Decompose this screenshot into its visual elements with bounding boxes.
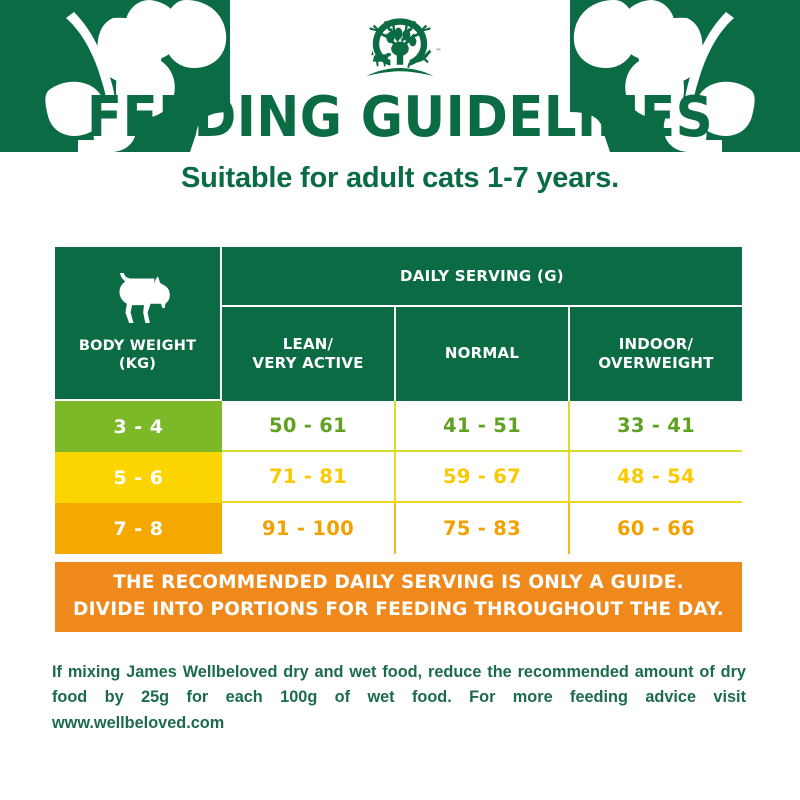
serving-subheader-row: LEAN/ VERY ACTIVE NORMAL INDOOR/ OVERWEI… [222,307,742,401]
svg-text:™: ™ [435,48,441,56]
guide-notice-line-1: THE RECOMMENDED DAILY SERVING IS ONLY A … [113,570,684,597]
body-weight-value: 3 - 4 [55,401,222,452]
daily-serving-header-label: DAILY SERVING (G) [222,247,742,307]
serving-value-cell: 50 - 61 [222,401,396,452]
body-weight-value: 7 - 8 [55,503,222,554]
serving-value-cell: 75 - 83 [396,503,570,554]
body-weight-value: 5 - 6 [55,452,222,503]
serving-column-header-indoor: INDOOR/ OVERWEIGHT [570,307,742,401]
serving-value-cell: 41 - 51 [396,401,570,452]
serving-value-cell: 91 - 100 [222,503,396,554]
serving-values-group: 91 - 10075 - 8360 - 66 [222,503,742,554]
guide-notice-line-2: DIVIDE INTO PORTIONS FOR FEEDING THROUGH… [73,597,724,624]
serving-values-group: 50 - 6141 - 5133 - 41 [222,401,742,452]
body-weight-header-label: BODY WEIGHT (KG) [79,337,196,373]
table-row: 3 - 450 - 6141 - 5133 - 41 [55,401,742,452]
table-body: 3 - 450 - 6141 - 5133 - 415 - 671 - 8159… [55,401,742,554]
serving-column-header-lean: LEAN/ VERY ACTIVE [222,307,396,401]
feeding-guidelines-table: BODY WEIGHT (KG) DAILY SERVING (G) LEAN/… [55,247,742,554]
serving-value-cell: 33 - 41 [570,401,742,452]
serving-column-header-normal: NORMAL [396,307,570,401]
cat-silhouette-icon [101,273,175,327]
serving-value-cell: 48 - 54 [570,452,742,503]
table-row: 7 - 891 - 10075 - 8360 - 66 [55,503,742,554]
page-subtitle: Suitable for adult cats 1-7 years. [0,162,800,195]
table-header: BODY WEIGHT (KG) DAILY SERVING (G) LEAN/… [55,247,742,401]
serving-values-group: 71 - 8159 - 6748 - 54 [222,452,742,503]
james-wellbeloved-tree-logo-icon: ™ [352,12,448,84]
guide-notice-banner: THE RECOMMENDED DAILY SERVING IS ONLY A … [55,562,742,632]
serving-value-cell: 60 - 66 [570,503,742,554]
table-row: 5 - 671 - 8159 - 6748 - 54 [55,452,742,503]
serving-value-cell: 59 - 67 [396,452,570,503]
body-weight-header-cell: BODY WEIGHT (KG) [55,247,222,399]
footer-note: If mixing James Wellbeloved dry and wet … [52,660,746,736]
page-title: FEEDING GUIDELINES [32,90,768,146]
serving-value-cell: 71 - 81 [222,452,396,503]
daily-serving-header-group: DAILY SERVING (G) LEAN/ VERY ACTIVE NORM… [222,247,742,401]
page-header: ™ FEEDING GUIDELINES Suitable for adult … [0,0,800,195]
